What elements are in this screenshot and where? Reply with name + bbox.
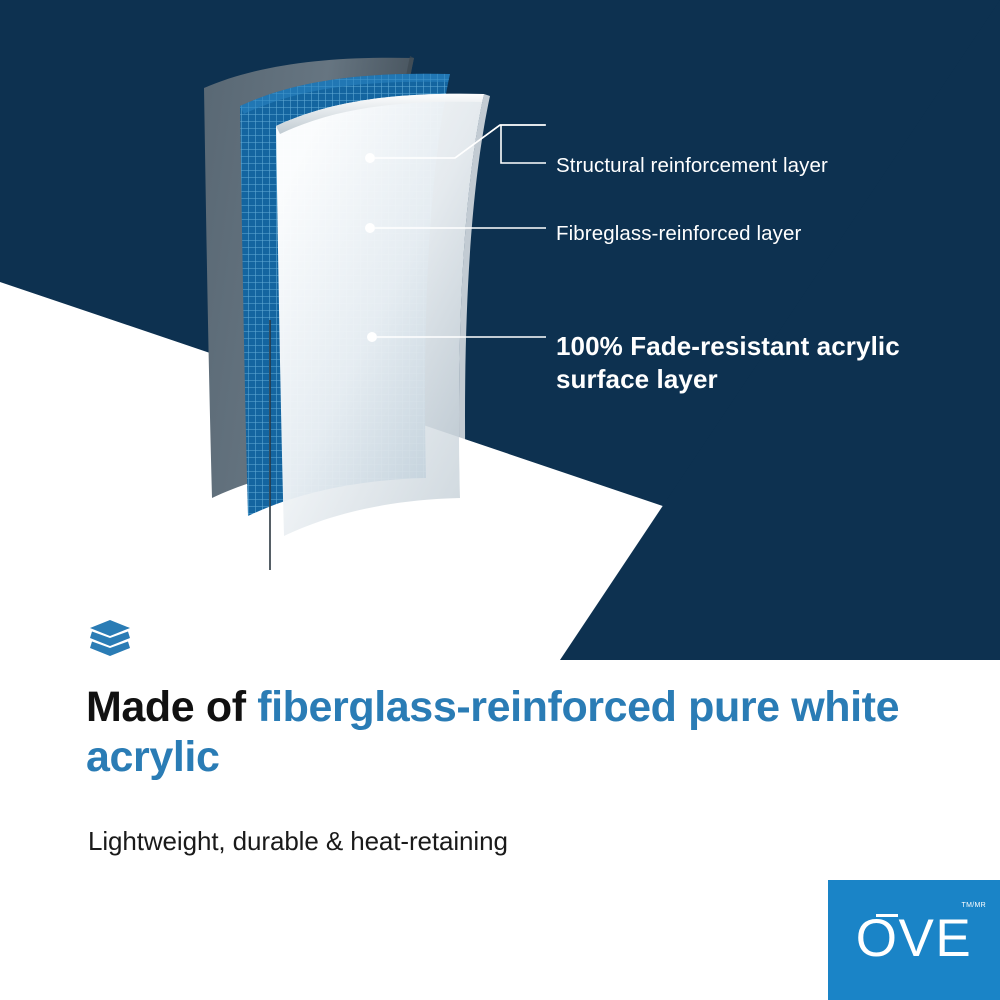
infographic-canvas: Structural reinforcement layer Fibreglas…: [0, 0, 1000, 1000]
layer-illustration: [150, 30, 570, 570]
brand-badge: OVE TM/MR: [828, 880, 1000, 1000]
brand-trademark: TM/MR: [962, 902, 986, 909]
layers-stack-icon: [88, 618, 132, 658]
headline-lead: Made of: [86, 683, 257, 731]
brand-name: OVE: [828, 908, 1000, 969]
page-subheadline: Lightweight, durable & heat-retaining: [88, 826, 508, 857]
callout-acrylic-surface: 100% Fade-resistant acrylic surface laye…: [556, 330, 956, 396]
page-headline: Made of fiberglass-reinforced pure white…: [86, 682, 936, 782]
acrylic-surface-layer-shape: [276, 94, 490, 536]
callout-structural-reinforcement: Structural reinforcement layer: [556, 154, 828, 178]
callout-fibreglass-reinforced: Fibreglass-reinforced layer: [556, 222, 801, 246]
